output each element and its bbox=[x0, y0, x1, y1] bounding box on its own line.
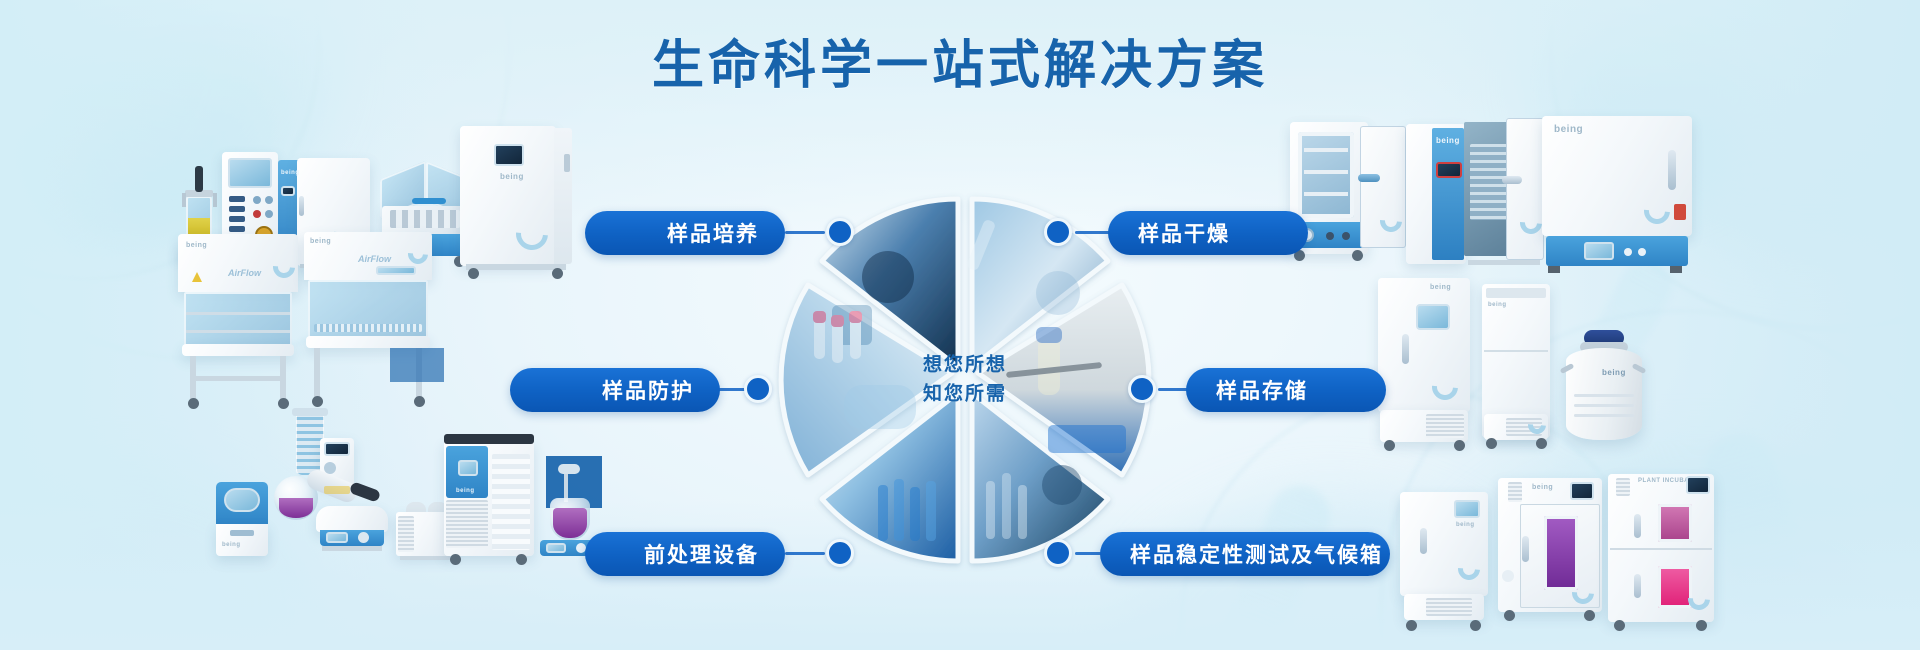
petal-scene-researcher bbox=[1036, 271, 1080, 315]
product-recirculating-chiller: being bbox=[444, 432, 540, 564]
category-pill-sample-drying[interactable]: 样品干燥 bbox=[1108, 211, 1308, 255]
product-homogenizer: being bbox=[216, 482, 268, 560]
connector-dot-sample-storage bbox=[1128, 375, 1156, 403]
product-large-incubator: being bbox=[460, 126, 578, 274]
product-cluster-stability-test-climate-chamber: being being PLANT INCUBATOR bbox=[1390, 470, 1740, 650]
solution-wheel: 想您所想 知您所需 bbox=[770, 185, 1160, 575]
petal-scene-blue-tray bbox=[1048, 425, 1126, 453]
page-title: 生命科学一站式解决方案 bbox=[0, 38, 1920, 95]
product-stability-chamber: being bbox=[1400, 492, 1496, 644]
category-label-sample-cultivation: 样品培养 bbox=[667, 218, 759, 248]
product-ultra-low-freezer: being bbox=[1378, 278, 1478, 454]
petal-scene-vial-cap bbox=[1036, 327, 1062, 343]
product-cluster-sample-protection: being AirFlow being AirFlow bbox=[170, 230, 470, 410]
connector-pretreatment-equipment bbox=[785, 552, 825, 555]
category-pill-sample-storage[interactable]: 样品存储 bbox=[1186, 368, 1386, 412]
product-biosafety-cabinet-a2: being AirFlow bbox=[178, 234, 308, 406]
product-cluster-sample-drying: being being bbox=[1290, 110, 1710, 280]
product-forced-air-oven: being bbox=[1406, 114, 1546, 272]
connector-dot-stability-test-climate-chamber bbox=[1044, 539, 1072, 567]
category-label-pretreatment-equipment: 前处理设备 bbox=[644, 539, 759, 569]
category-label-sample-drying: 样品干燥 bbox=[1138, 218, 1230, 248]
category-pill-sample-cultivation[interactable]: 样品培养 bbox=[585, 211, 785, 255]
petal-scene-blood-tubes bbox=[813, 311, 862, 363]
product-plant-growth-incubator: PLANT INCUBATOR bbox=[1608, 470, 1720, 644]
product-vacuum-drying-oven bbox=[1290, 122, 1408, 272]
petal-scene-microscope-2 bbox=[1042, 465, 1082, 505]
product-cluster-sample-storage: being being being bbox=[1370, 278, 1720, 458]
petal-scene-vial bbox=[1038, 337, 1060, 395]
product-rotary-evaporator bbox=[266, 410, 396, 562]
connector-sample-cultivation bbox=[785, 231, 825, 234]
category-pill-pretreatment-equipment[interactable]: 前处理设备 bbox=[585, 532, 785, 576]
petal-scene-microscope bbox=[862, 251, 914, 303]
product-climate-chamber: being bbox=[1498, 478, 1608, 644]
product-high-temp-oven: being bbox=[1542, 110, 1704, 276]
connector-dot-pretreatment-equipment bbox=[826, 539, 854, 567]
product-laminar-flow-hood: being AirFlow bbox=[304, 232, 444, 408]
connector-dot-sample-protection bbox=[744, 375, 772, 403]
category-pill-stability-test-climate-chamber[interactable]: 样品稳定性测试及气候箱 bbox=[1100, 532, 1390, 576]
product-lab-refrigerator: being bbox=[1482, 284, 1554, 454]
category-label-sample-protection: 样品防护 bbox=[602, 375, 694, 405]
category-label-stability-test-climate-chamber: 样品稳定性测试及气候箱 bbox=[1130, 539, 1383, 569]
connector-dot-sample-cultivation bbox=[826, 218, 854, 246]
product-cluster-pretreatment-equipment: being being bbox=[200, 410, 600, 600]
category-pill-sample-protection[interactable]: 样品防护 bbox=[510, 368, 720, 412]
product-liquid-nitrogen-tank: being bbox=[1562, 330, 1646, 448]
category-label-sample-storage: 样品存储 bbox=[1216, 375, 1308, 405]
connector-dot-sample-drying bbox=[1044, 218, 1072, 246]
petal-scene-gloved-hand bbox=[844, 385, 916, 429]
